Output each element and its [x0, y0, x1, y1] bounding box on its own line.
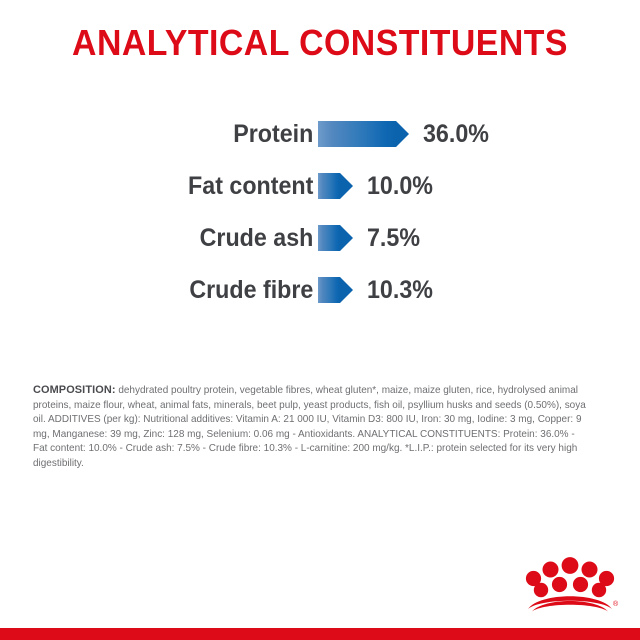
chart-row-label: Fat content: [22, 172, 318, 201]
chart-row: Protein 36.0%: [0, 108, 640, 160]
chart-bar-container: [318, 173, 340, 199]
composition-body: dehydrated poultry protein, vegetable fi…: [33, 385, 586, 469]
chart-row-value: 10.3%: [367, 276, 433, 305]
chart-bar-container: [318, 225, 340, 251]
chart-bar-container: [318, 121, 396, 147]
composition-heading: COMPOSITION:: [33, 384, 116, 396]
product-info-panel: ANALYTICAL CONSTITUENTS Protein 36.0% Fa…: [0, 0, 640, 640]
chart-bar: [318, 277, 340, 303]
composition-text-block: COMPOSITION: dehydrated poultry protein,…: [33, 383, 586, 472]
chart-row-value: 7.5%: [367, 224, 420, 253]
chart-row-value: 36.0%: [423, 120, 489, 149]
chart-row: Crude fibre 10.3%: [0, 264, 640, 316]
chart-bar: [318, 121, 396, 147]
page-title: ANALYTICAL CONSTITUENTS: [19, 22, 621, 63]
chart-row-label: Crude fibre: [22, 276, 318, 305]
chart-bar: [318, 173, 340, 199]
chart-row-label: Crude ash: [22, 224, 318, 253]
chart-row: Fat content 10.0%: [0, 160, 640, 212]
chart-row-label: Protein: [22, 120, 318, 149]
chart-row: Crude ash 7.5%: [0, 212, 640, 264]
bottom-accent-bar: [0, 628, 640, 640]
registered-trademark-symbol: ®: [613, 600, 619, 608]
chart-bar-container: [318, 277, 340, 303]
chart-row-value: 10.0%: [367, 172, 433, 201]
analytical-constituents-chart: Protein 36.0% Fat content 10.0% Crude as…: [0, 108, 640, 316]
royal-canin-crown-logo: ®: [518, 548, 622, 614]
chart-bar: [318, 225, 340, 251]
